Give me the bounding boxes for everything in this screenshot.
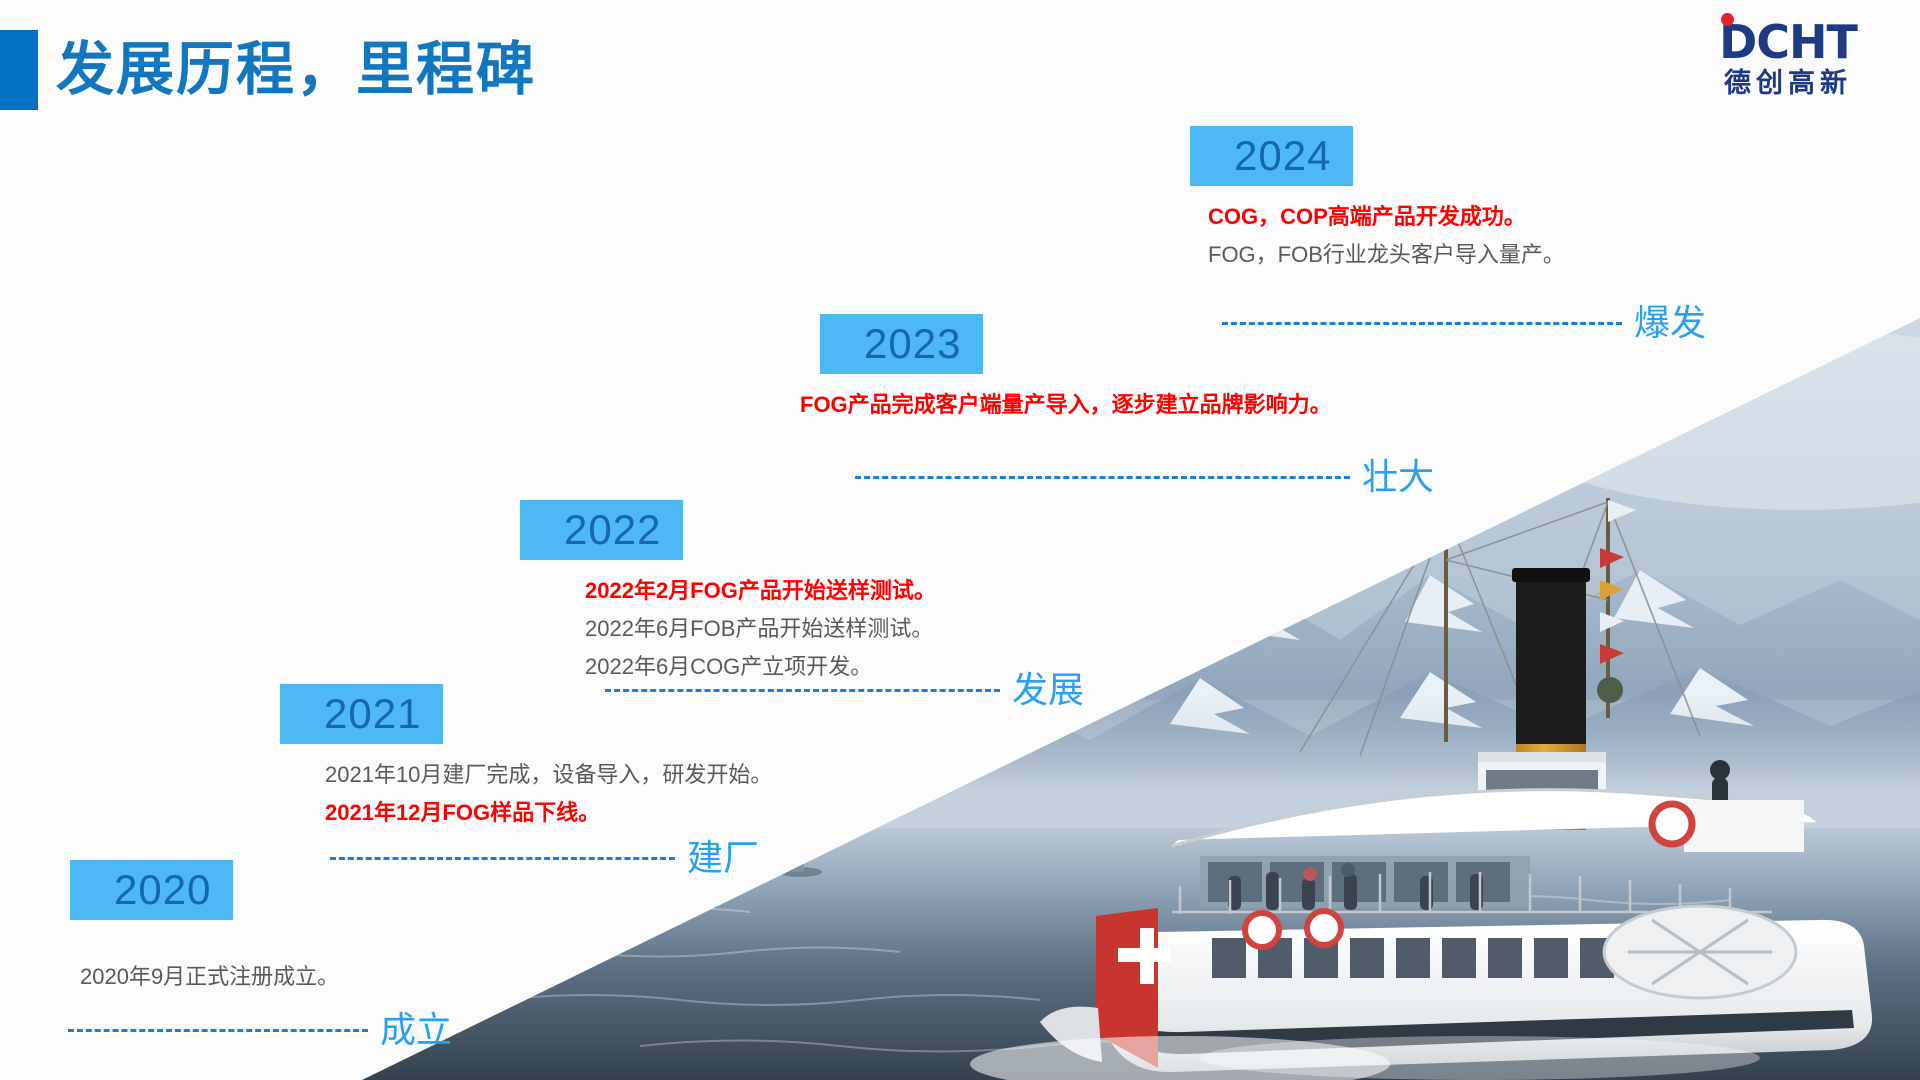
- milestone-line: 2021年12月FOG样品下线。: [325, 794, 772, 832]
- year-badge-2020: 2020: [70, 860, 233, 920]
- milestone-2024-lines: COG，COP高端产品开发成功。 FOG，FOB行业龙头客户导入量产。: [1208, 198, 1565, 274]
- stage-label-2020: 成立: [380, 1012, 452, 1048]
- milestone-line: 2021年10月建厂完成，设备导入，研发开始。: [325, 756, 772, 794]
- logo-red-dot-icon: [1721, 13, 1734, 26]
- milestone-2022-lines: 2022年2月FOG产品开始送样测试。 2022年6月FOB产品开始送样测试。 …: [585, 572, 936, 686]
- year-badge-2023: 2023: [820, 314, 983, 374]
- milestone-line: FOG产品完成客户端量产导入，逐步建立品牌影响力。: [800, 386, 1332, 424]
- title-accent-bar: [0, 30, 38, 110]
- milestone-2023-lines: FOG产品完成客户端量产导入，逐步建立品牌影响力。: [800, 386, 1332, 424]
- milestone-2023: 2023 FOG产品完成客户端量产导入，逐步建立品牌影响力。: [820, 314, 1332, 424]
- year-badge-2021: 2021: [280, 684, 443, 744]
- year-badge-2024: 2024: [1190, 126, 1353, 186]
- milestone-line: COG，COP高端产品开发成功。: [1208, 198, 1565, 236]
- page-title: 发展历程，里程碑: [56, 32, 536, 107]
- dashed-line: [855, 476, 1350, 479]
- milestone-2020-lines: 2020年9月正式注册成立。: [80, 958, 339, 996]
- year-badge-2022: 2022: [520, 500, 683, 560]
- logo-wordmark-group: DCHT: [1719, 15, 1857, 65]
- logo-wordmark: DCHT: [1719, 19, 1857, 65]
- dashed-line: [330, 857, 675, 860]
- milestone-2021: 2021 2021年10月建厂完成，设备导入，研发开始。 2021年12月FOG…: [280, 684, 772, 832]
- stage-label-2021: 建厂: [687, 840, 759, 876]
- milestone-2020: 2020 2020年9月正式注册成立。: [70, 860, 339, 996]
- milestone-2021-lines: 2021年10月建厂完成，设备导入，研发开始。 2021年12月FOG样品下线。: [325, 756, 772, 832]
- connector-2023: 壮大: [855, 459, 1434, 495]
- milestone-line: 2022年2月FOG产品开始送样测试。: [585, 572, 936, 610]
- milestone-line: 2022年6月FOB产品开始送样测试。: [585, 610, 936, 648]
- milestone-line: FOG，FOB行业龙头客户导入量产。: [1208, 236, 1565, 274]
- milestone-line: 2020年9月正式注册成立。: [80, 958, 339, 996]
- milestone-2022: 2022 2022年2月FOG产品开始送样测试。 2022年6月FOB产品开始送…: [520, 500, 936, 686]
- company-logo: DCHT 德创高新: [1684, 8, 1892, 104]
- connector-2021: 建厂: [330, 840, 759, 876]
- dashed-line: [68, 1029, 368, 1032]
- logo-chinese-name: 德创高新: [1724, 68, 1852, 98]
- stage-label-2023: 壮大: [1362, 459, 1434, 495]
- connector-2020: 成立: [68, 1012, 452, 1048]
- stage-label-2022: 发展: [1012, 672, 1084, 708]
- milestone-2024: 2024 COG，COP高端产品开发成功。 FOG，FOB行业龙头客户导入量产。: [1190, 126, 1565, 274]
- stage-label-2024: 爆发: [1634, 305, 1706, 341]
